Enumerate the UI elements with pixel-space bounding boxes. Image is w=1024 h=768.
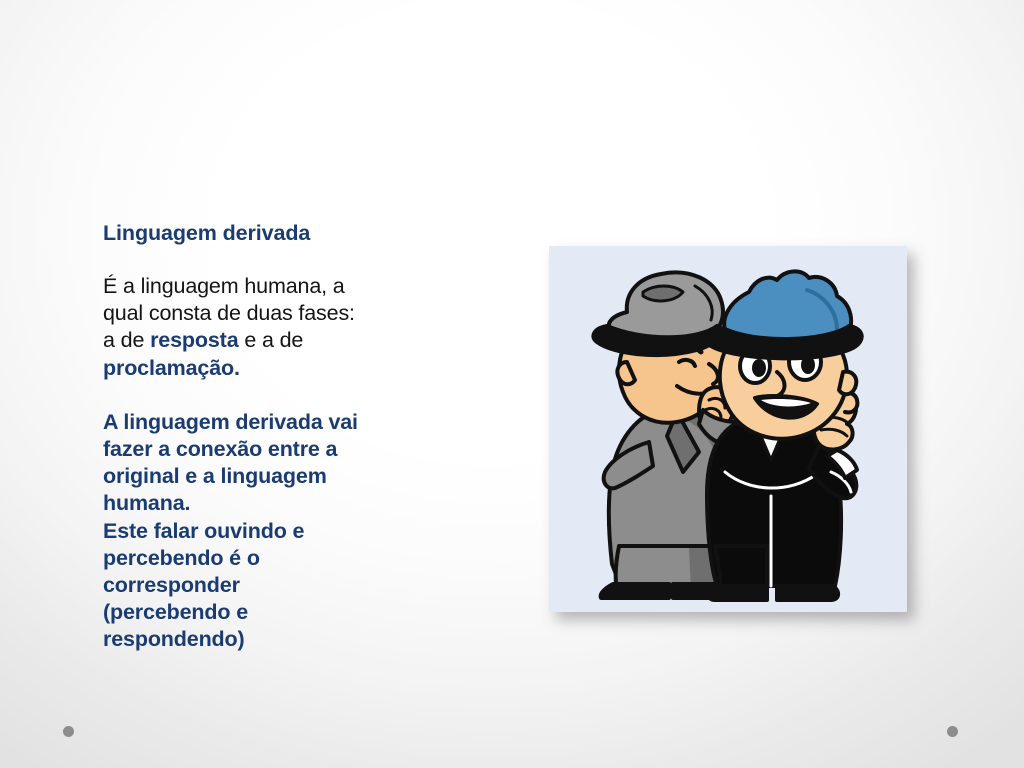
corresponder-line-5: respondendo) <box>103 627 245 651</box>
definition-term-resposta: resposta <box>150 328 238 352</box>
corresponder-line-1: Este falar ouvindo e <box>103 519 304 543</box>
clipart-frame <box>549 246 907 612</box>
slide-canvas: Linguagem derivada É a linguagem humana,… <box>0 0 1024 768</box>
definition-line-2: qual consta de duas fases: <box>103 301 355 325</box>
corresponder-line-3: corresponder <box>103 573 240 597</box>
paragraph-spacer <box>103 382 473 409</box>
bottom-right-dot <box>947 726 958 737</box>
paragraph-definition: É a linguagem humana, a qual consta de d… <box>103 273 473 382</box>
connection-line-2: fazer a conexão entre a <box>103 437 337 461</box>
text-content-block: Linguagem derivada É a linguagem humana,… <box>103 220 473 654</box>
definition-line-3-prefix: a de <box>103 328 150 352</box>
definition-line-1: É a linguagem humana, a <box>103 274 345 298</box>
paragraph-corresponder: Este falar ouvindo e percebendo é o corr… <box>103 518 473 654</box>
paragraph-connection: A linguagem derivada vai fazer a conexão… <box>103 409 473 518</box>
connection-line-1: A linguagem derivada vai <box>103 410 358 434</box>
connection-line-3: original e a linguagem <box>103 464 327 488</box>
page-title: Linguagem derivada <box>103 220 473 247</box>
bottom-left-dot <box>63 726 74 737</box>
connection-line-4: humana. <box>103 491 190 515</box>
definition-line-3-suffix: e a de <box>239 328 304 352</box>
corresponder-line-2: percebendo é o <box>103 546 260 570</box>
corresponder-line-4: (percebendo e <box>103 600 248 624</box>
two-men-whispering-clipart <box>549 246 907 612</box>
definition-term-proclamacao: proclamação. <box>103 356 240 380</box>
